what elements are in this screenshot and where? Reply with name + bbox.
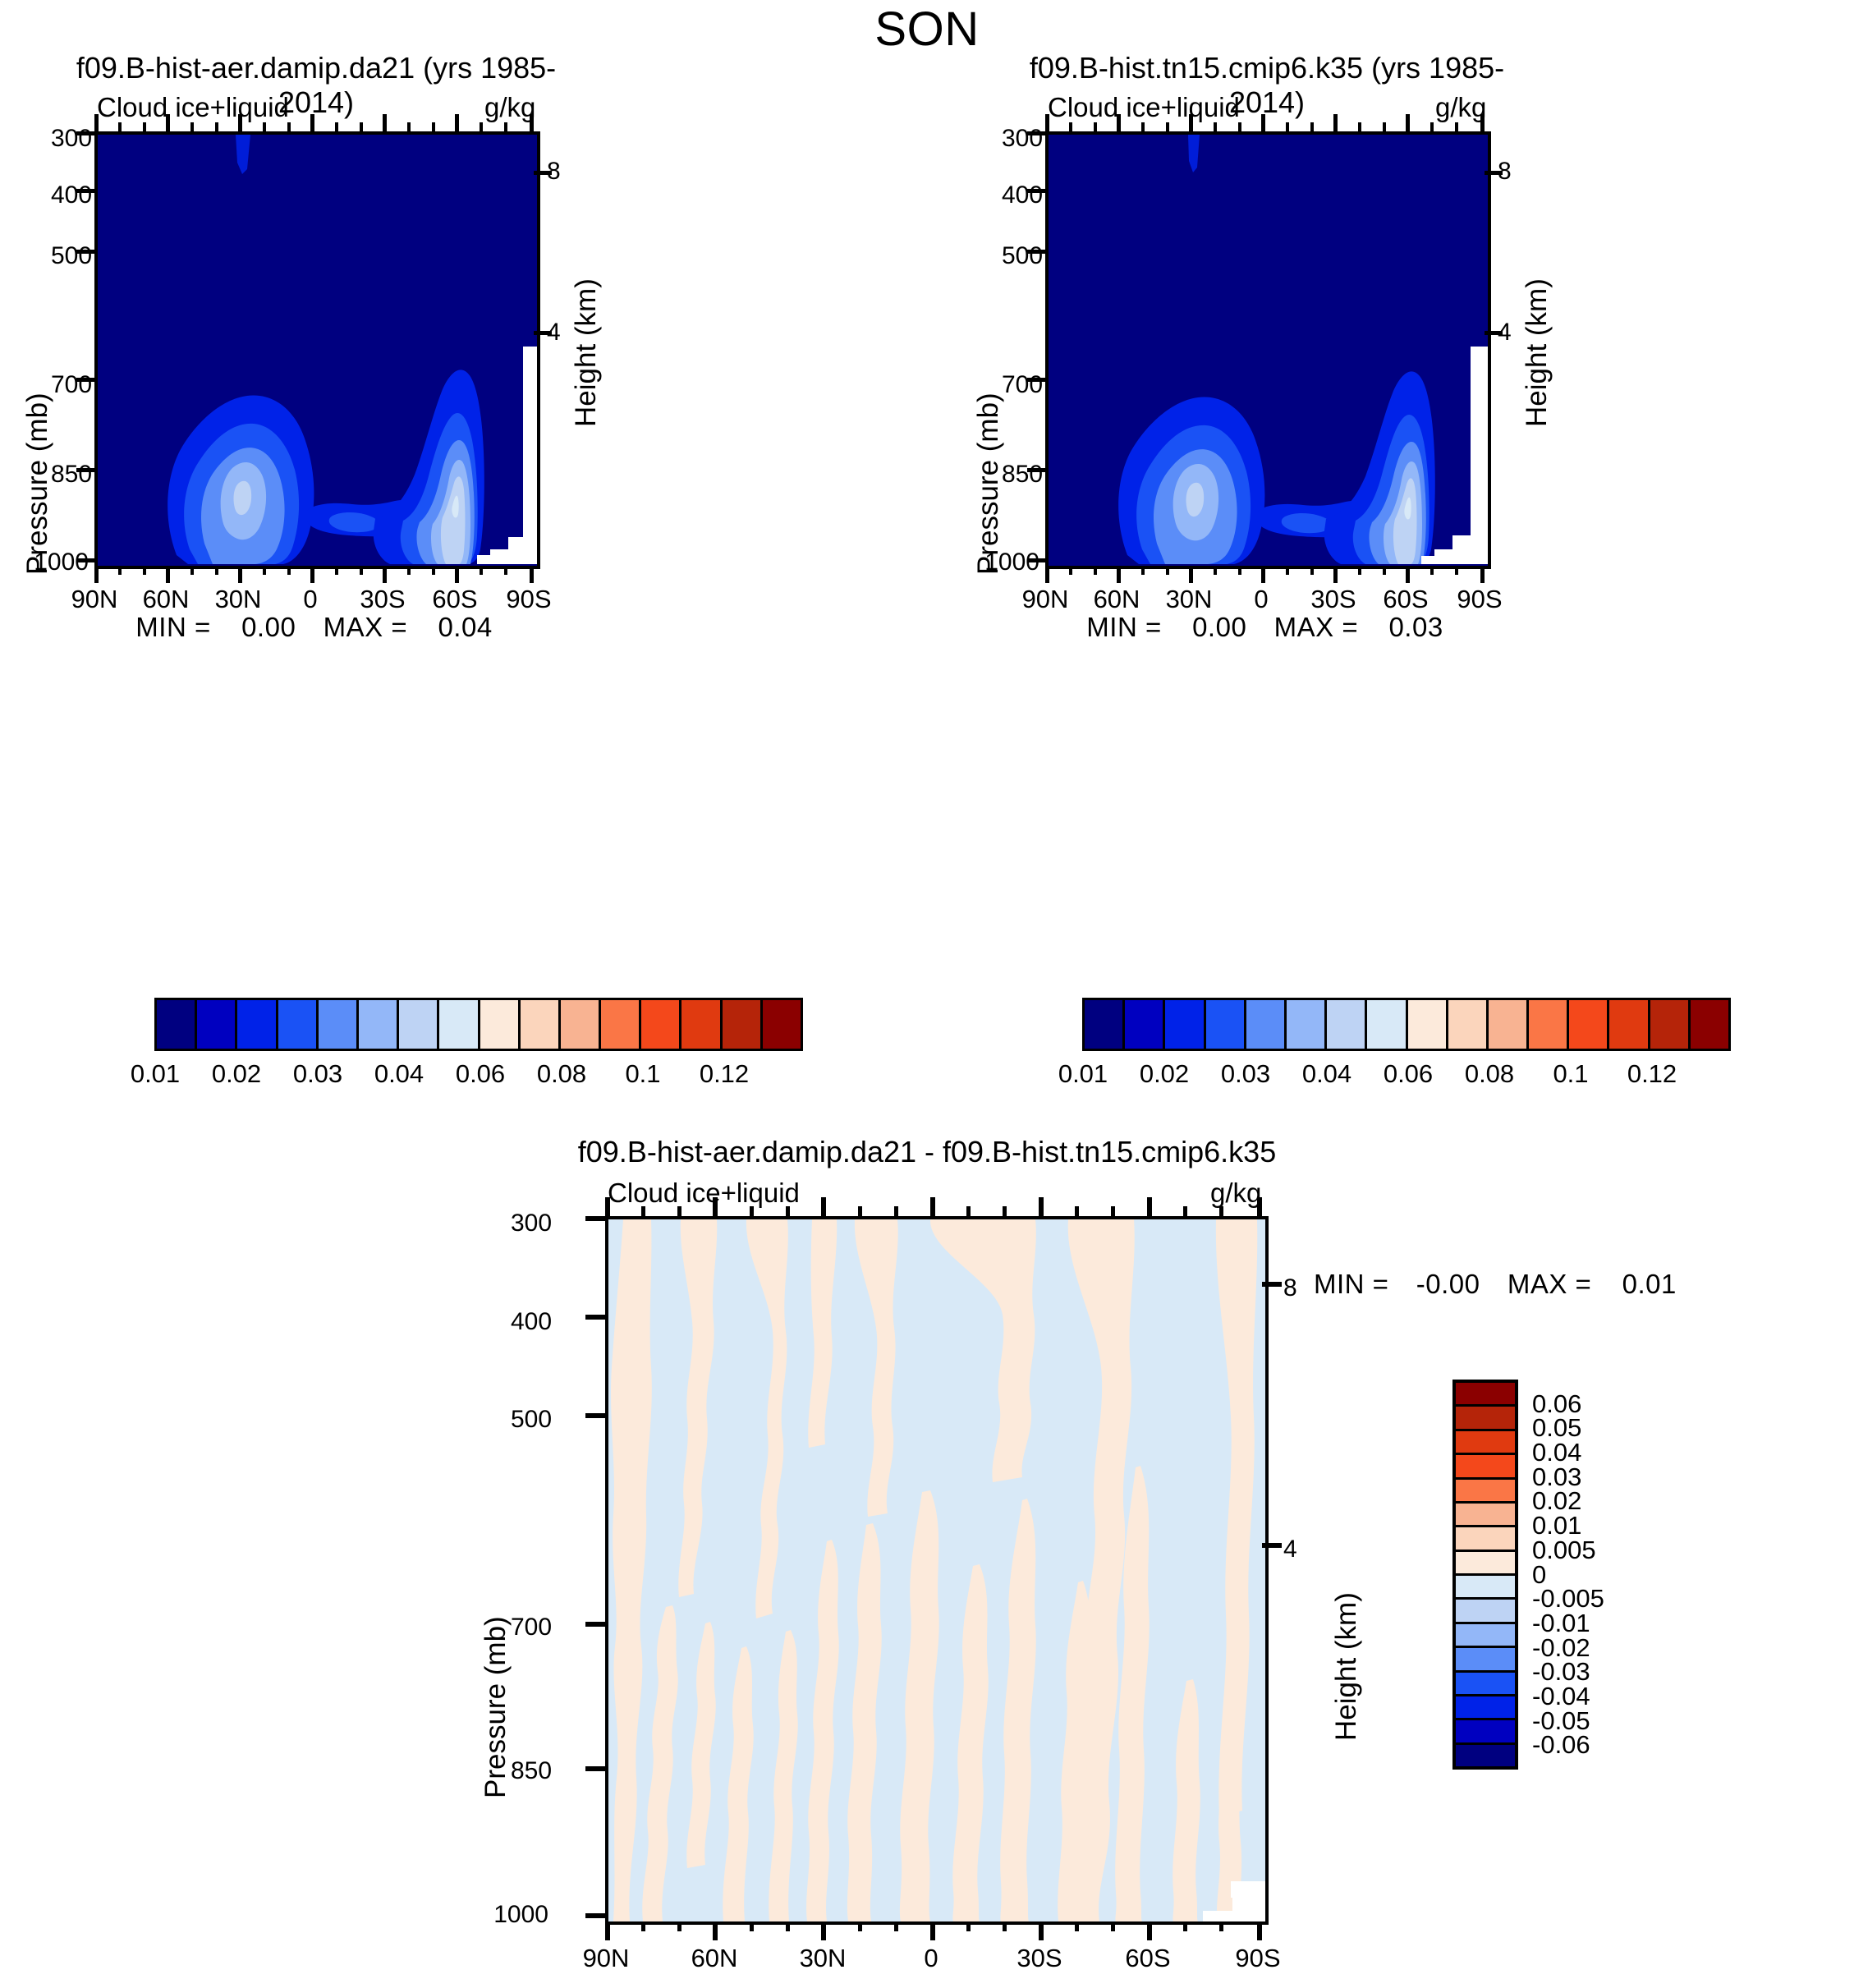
xtick-minor [1455,122,1458,131]
xtick-minor [1219,1206,1223,1216]
xtick-major [821,1921,826,1940]
xtick-minor [335,566,338,575]
colorbar-swatch[interactable] [1367,1000,1407,1049]
ytick-major [585,1216,605,1221]
colorbar-swatch[interactable] [1165,1000,1205,1049]
xtick-minor [1094,566,1097,575]
diff-ytick-700: 700 [511,1614,548,1641]
right-xaxis-ticks [1045,566,1485,584]
xtick-minor [263,566,266,575]
ytick-major [1027,250,1045,254]
right-contour-plot[interactable] [1045,131,1491,569]
xtick-minor [1183,1206,1187,1216]
diff-max-label: MAX = [1508,1269,1591,1299]
height-tick-8 [1262,1282,1282,1287]
colorbar-swatch[interactable] [763,1000,801,1049]
xtick-minor [1286,566,1289,575]
xtick-major [1189,566,1193,583]
ytick-major [76,189,94,193]
xtick-minor [360,122,363,131]
left-yaxis-ticks [76,131,94,562]
xtick-minor [287,122,291,131]
xtick-minor [143,566,146,575]
colorbar-swatch[interactable] [1456,1407,1515,1430]
ytick-major [585,1913,605,1918]
xtick-minor [1069,566,1072,575]
diff-xtick-90S: 90S [1227,1944,1289,1973]
colorbar-swatch[interactable] [1691,1000,1728,1049]
ytick-major [585,1315,605,1320]
xtick-minor [1238,566,1241,575]
figure-season-title: SON [0,2,1854,57]
right-xtick-60S: 60S [1374,585,1437,614]
cb-label: 0.06 [440,1059,521,1089]
ytick-major [585,1622,605,1627]
colorbar-swatch[interactable] [1456,1720,1515,1744]
cb-label: 0.01 [115,1059,195,1089]
right-top-ticks [1045,114,1485,131]
xtick-major [1480,114,1485,131]
xtick-minor [215,566,218,575]
left-minmax: MIN = 0.00 MAX = 0.04 [94,612,534,643]
xtick-minor [1214,566,1217,575]
colorbar-swatch[interactable] [601,1000,641,1049]
cb-label: 0.08 [1449,1059,1530,1089]
left-xtick-60S: 60S [424,585,486,614]
diff-height-axis-ticks [1262,1216,1282,1918]
right-yaxis-ticks [1027,131,1045,562]
colorbar-swatch[interactable] [641,1000,681,1049]
cb-label: 0.12 [684,1059,764,1089]
xtick-minor [1075,1921,1079,1931]
cb-label: 0.02 [196,1059,277,1089]
xtick-major [930,1921,935,1940]
colorbar-swatch[interactable] [1569,1000,1609,1049]
diff-top-ticks [605,1197,1262,1216]
colorbar-swatch[interactable] [1408,1000,1448,1049]
xtick-major [1189,114,1193,131]
diff-contour-plot[interactable] [605,1216,1269,1925]
xtick-major [1147,1921,1152,1940]
ytick-major [76,378,94,382]
xtick-minor [407,566,411,575]
right-colorbar-labels: 0.01 0.02 0.03 0.04 0.06 0.08 0.1 0.12 [1082,1059,1731,1092]
colorbar-swatch[interactable] [1650,1000,1691,1049]
xtick-minor [641,1206,645,1216]
xtick-minor [1166,566,1169,575]
right-ylabel-pressure-text: Pressure (mb) [972,393,1005,575]
xtick-minor [432,566,435,575]
xtick-major [713,1921,718,1940]
xtick-minor [858,1206,862,1216]
colorbar-swatch[interactable] [1456,1552,1515,1576]
diff-xtick-60N: 60N [683,1944,746,1973]
xtick-major [1117,114,1121,131]
colorbar-swatch[interactable] [319,1000,359,1049]
right-xtick-90N: 90N [1014,585,1076,614]
diff-ylabel-pressure-text: Pressure (mb) [480,1616,512,1798]
right-max-value: 0.03 [1388,612,1443,642]
xtick-major [713,1197,718,1216]
right-colorbar[interactable] [1082,998,1731,1051]
xtick-minor [677,1921,681,1931]
xtick-major [605,1921,610,1940]
right-xtick-0: 0 [1230,585,1292,614]
xtick-minor [1383,122,1386,131]
colorbar-swatch[interactable] [278,1000,319,1049]
colorbar-swatch[interactable] [1456,1745,1515,1766]
cb-label: 0.02 [1124,1059,1205,1089]
left-colorbar[interactable] [154,998,803,1051]
xtick-major [530,114,534,131]
diff-panel-title-text: f09.B-hist-aer.damip.da21 - f09.B-hist.t… [352,1135,1502,1169]
xtick-minor [143,122,146,131]
xtick-major [94,566,99,583]
colorbar-swatch[interactable] [157,1000,197,1049]
xtick-major [310,114,314,131]
right-xtick-30N: 30N [1158,585,1220,614]
xtick-minor [504,122,507,131]
ytick-major [1027,378,1045,382]
colorbar-swatch[interactable] [439,1000,480,1049]
xtick-minor [1094,122,1097,131]
left-xaxis-ticks [94,566,534,584]
xtick-major [455,566,459,583]
xtick-major [1257,1921,1262,1940]
xtick-minor [1310,566,1314,575]
ytick-major [1027,468,1045,472]
left-xtick-90S: 90S [498,585,560,614]
colorbar-swatch[interactable] [1246,1000,1287,1049]
colorbar-swatch[interactable] [1456,1527,1515,1551]
left-xtick-60N: 60N [135,585,197,614]
xtick-major [455,114,459,131]
xtick-minor [1075,1206,1079,1216]
xtick-minor [1358,122,1361,131]
diff-xtick-30S: 30S [1008,1944,1071,1973]
colorbar-swatch[interactable] [480,1000,521,1049]
colorbar-swatch[interactable] [1456,1648,1515,1672]
colorbar-swatch[interactable] [1456,1480,1515,1504]
xtick-minor [786,1206,790,1216]
xtick-major [310,566,314,583]
xtick-major [605,1197,610,1216]
xtick-minor [1238,122,1241,131]
colorbar-swatch[interactable] [359,1000,399,1049]
right-ylabel-height: Height (km) [1521,427,1669,460]
xtick-minor [360,566,363,575]
xtick-minor [894,1921,898,1931]
diff-ytick-1000: 1000 [493,1901,548,1929]
xtick-minor [1003,1206,1007,1216]
xtick-major [930,1197,935,1216]
xtick-minor [118,122,122,131]
colorbar-swatch[interactable] [1448,1000,1489,1049]
height-tick-4 [1262,1543,1282,1548]
xtick-major [238,114,242,131]
right-ylabel-height-text: Height (km) [1521,278,1553,427]
colorbar-swatch[interactable] [1456,1696,1515,1720]
diff-min-value: -0.00 [1416,1269,1480,1299]
colorbar-swatch[interactable] [1206,1000,1246,1049]
ytick-major [76,131,94,135]
height-tick-8 [534,171,552,175]
xtick-minor [287,566,291,575]
colorbar-swatch[interactable] [1125,1000,1165,1049]
diff-max-value: 0.01 [1622,1269,1677,1299]
xtick-minor [407,122,411,131]
xtick-major [1333,114,1338,131]
cb-label: 0.06 [1368,1059,1448,1089]
ytick-major [1027,131,1045,135]
left-xtick-30S: 30S [351,585,414,614]
diff-xtick-0: 0 [900,1944,962,1973]
xtick-major [166,114,170,131]
xtick-minor [190,566,194,575]
xtick-minor [1214,122,1217,131]
cb-label: 0.04 [359,1059,439,1089]
xtick-minor [480,122,483,131]
cb-label: 0.1 [1530,1059,1611,1089]
colorbar-tick-label: -0.06 [1532,1730,1590,1760]
left-contour-plot[interactable] [94,131,540,569]
colorbar-swatch[interactable] [1287,1000,1327,1049]
cb-label: 0.01 [1043,1059,1123,1089]
xtick-major [1261,566,1265,583]
diff-ytick-400: 400 [511,1308,548,1336]
xtick-major [1117,566,1121,583]
colorbar-swatch[interactable] [1456,1455,1515,1479]
xtick-minor [1455,566,1458,575]
ytick-major [76,250,94,254]
ytick-major [76,558,94,562]
left-height-axis-ticks [534,131,552,562]
colorbar-swatch[interactable] [1456,1600,1515,1623]
diff-panel-title: f09.B-hist-aer.damip.da21 - f09.B-hist.t… [352,1135,1502,1169]
left-min-label: MIN = [135,612,210,642]
xtick-minor [1003,1921,1007,1931]
diff-colorbar-labels: 0.060.050.040.030.020.010.0050-0.005-0.0… [1532,1380,1713,1770]
xtick-major [821,1197,826,1216]
diff-minmax: MIN = -0.00 MAX = 0.01 [1314,1269,1677,1300]
left-xtick-90N: 90N [63,585,126,614]
xtick-minor [1358,566,1361,575]
diff-ytick-300: 300 [511,1210,548,1237]
xtick-minor [1111,1206,1115,1216]
cb-label: 0.12 [1612,1059,1692,1089]
left-ylabel-height-text: Height (km) [570,278,603,427]
xtick-minor [335,122,338,131]
diff-xtick-90N: 90N [575,1944,637,1973]
xtick-minor [1069,122,1072,131]
xtick-major [1333,566,1338,583]
xtick-minor [480,566,483,575]
colorbar-swatch[interactable] [399,1000,439,1049]
colorbar-swatch[interactable] [1529,1000,1569,1049]
xtick-major [1039,1197,1044,1216]
xtick-minor [858,1921,862,1931]
xtick-minor [1183,1921,1187,1931]
xtick-minor [677,1206,681,1216]
right-xtick-30S: 30S [1302,585,1365,614]
colorbar-swatch[interactable] [1456,1431,1515,1455]
xtick-major [94,114,99,131]
xtick-major [1406,566,1410,583]
colorbar-swatch[interactable] [1456,1383,1515,1407]
diff-min-label: MIN = [1314,1269,1388,1299]
ytick-major [585,1413,605,1418]
xtick-minor [118,566,122,575]
xtick-minor [1430,566,1434,575]
colorbar-swatch[interactable] [1456,1673,1515,1696]
xtick-minor [1141,122,1145,131]
left-xtick-0: 0 [279,585,342,614]
diff-ytick-850: 850 [511,1757,548,1785]
colorbar-swatch[interactable] [723,1000,763,1049]
diff-ylabel-height-text: Height (km) [1330,1592,1363,1741]
height-tick-8 [1485,171,1503,175]
xtick-major [238,566,242,583]
right-xtick-90S: 90S [1448,585,1511,614]
xtick-minor [750,1921,754,1931]
xtick-minor [190,122,194,131]
xtick-minor [966,1921,971,1931]
cb-label: 0.08 [521,1059,602,1089]
xtick-minor [1141,566,1145,575]
diff-height-tick-8: 8 [1283,1274,1297,1302]
left-ylabel-height: Height (km) [570,427,718,460]
xtick-minor [263,122,266,131]
left-colorbar-labels: 0.01 0.02 0.03 0.04 0.06 0.08 0.1 0.12 [154,1059,803,1092]
ytick-major [1027,189,1045,193]
left-max-value: 0.04 [438,612,492,642]
diff-yaxis-ticks [585,1216,605,1918]
cb-label: 0.03 [278,1059,358,1089]
xtick-minor [641,1921,645,1931]
xtick-minor [1430,122,1434,131]
height-tick-4 [534,331,552,335]
colorbar-swatch[interactable] [237,1000,278,1049]
left-ylabel-pressure-text: Pressure (mb) [21,393,54,575]
colorbar-swatch[interactable] [681,1000,722,1049]
right-xtick-60N: 60N [1085,585,1148,614]
height-tick-4 [1485,331,1503,335]
cb-label: 0.1 [603,1059,683,1089]
xtick-minor [750,1206,754,1216]
colorbar-swatch[interactable] [521,1000,561,1049]
xtick-minor [1286,122,1289,131]
diff-xtick-60S: 60S [1117,1944,1179,1973]
diff-colorbar[interactable] [1452,1380,1518,1770]
ytick-major [585,1766,605,1771]
xtick-minor [894,1206,898,1216]
xtick-major [530,566,534,583]
right-min-value: 0.00 [1192,612,1246,642]
colorbar-swatch[interactable] [1489,1000,1529,1049]
right-minmax: MIN = 0.00 MAX = 0.03 [1045,612,1485,643]
ytick-major [1027,558,1045,562]
xtick-major [1406,114,1410,131]
xtick-minor [1383,566,1386,575]
diff-height-tick-4: 4 [1283,1536,1297,1563]
xtick-major [1257,1197,1262,1216]
xtick-minor [215,122,218,131]
xtick-major [1147,1197,1152,1216]
colorbar-swatch[interactable] [197,1000,237,1049]
xtick-major [383,114,387,131]
left-min-value: 0.00 [241,612,296,642]
xtick-major [1261,114,1265,131]
right-height-axis-ticks [1485,131,1503,562]
diff-xaxis-ticks [605,1921,1262,1941]
cb-label: 0.03 [1205,1059,1286,1089]
xtick-minor [786,1921,790,1931]
xtick-minor [1166,122,1169,131]
diff-ytick-500: 500 [511,1406,548,1434]
xtick-minor [966,1206,971,1216]
ytick-major [76,468,94,472]
xtick-major [1039,1921,1044,1940]
xtick-major [1045,566,1049,583]
colorbar-swatch[interactable] [1456,1624,1515,1648]
colorbar-swatch[interactable] [561,1000,601,1049]
right-min-label: MIN = [1086,612,1161,642]
colorbar-swatch[interactable] [1327,1000,1367,1049]
xtick-major [1045,114,1049,131]
xtick-major [383,566,387,583]
xtick-minor [1310,122,1314,131]
left-xtick-30N: 30N [207,585,269,614]
xtick-minor [432,122,435,131]
left-top-ticks [94,114,534,131]
cb-label: 0.04 [1287,1059,1367,1089]
colorbar-swatch[interactable] [1456,1504,1515,1527]
xtick-minor [1219,1921,1223,1931]
xtick-major [1480,566,1485,583]
right-max-label: MAX = [1274,612,1358,642]
colorbar-swatch[interactable] [1456,1576,1515,1600]
xtick-minor [1111,1921,1115,1931]
colorbar-swatch[interactable] [1609,1000,1650,1049]
left-max-label: MAX = [324,612,407,642]
colorbar-swatch[interactable] [1085,1000,1125,1049]
xtick-minor [504,566,507,575]
xtick-major [166,566,170,583]
diff-xtick-30N: 30N [792,1944,854,1973]
